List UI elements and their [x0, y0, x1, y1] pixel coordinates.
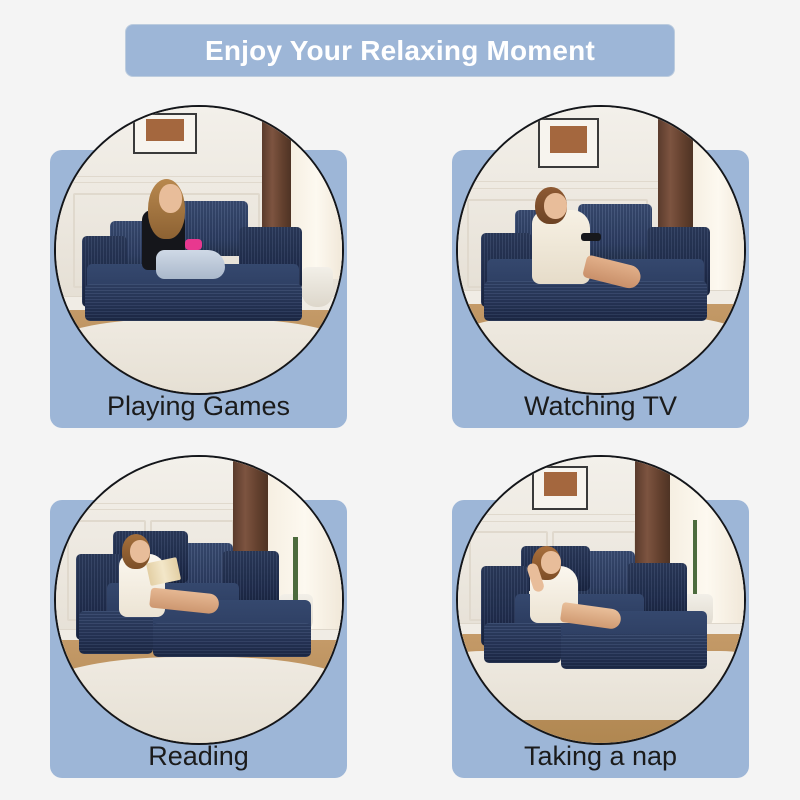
planter — [302, 267, 333, 307]
card-label-reading: Reading — [50, 743, 347, 770]
sofa-base-left — [79, 611, 153, 654]
area-rug — [54, 657, 344, 743]
feature-card-taking-a-nap[interactable]: Taking a nap — [452, 500, 749, 778]
sofa-base-left — [484, 623, 561, 663]
plant-stem — [693, 520, 697, 600]
wall-art-frame — [532, 466, 587, 510]
scene-photo-watching-tv — [456, 105, 746, 395]
wall-art-image — [146, 119, 184, 141]
feature-card-watching-tv[interactable]: Watching TV — [452, 150, 749, 428]
wall-art-image — [544, 472, 577, 496]
person-legs — [156, 250, 225, 279]
scene-photo-reading — [54, 455, 344, 745]
sofa-base — [85, 284, 302, 321]
scene-photo-playing-games — [54, 105, 344, 395]
person-head — [130, 540, 150, 563]
feature-card-playing-games[interactable]: Playing Games — [50, 150, 347, 428]
tv-remote — [581, 233, 601, 242]
wall-art-image — [550, 126, 587, 153]
photo-inner — [56, 107, 342, 393]
card-label-taking-a-nap: Taking a nap — [452, 743, 749, 770]
game-controller — [185, 239, 202, 250]
sofa-base — [484, 281, 707, 321]
person-head — [541, 551, 561, 574]
photo-inner — [56, 457, 342, 743]
wall-art-frame — [538, 118, 599, 168]
sofa-chaise-base — [153, 623, 310, 657]
area-rug — [456, 313, 746, 393]
wall-art-frame — [133, 113, 197, 154]
feature-card-reading[interactable]: Reading — [50, 500, 347, 778]
photo-inner — [458, 107, 744, 393]
wall-trim — [56, 503, 247, 511]
card-label-playing-games: Playing Games — [50, 393, 347, 420]
sofa-chaise-base — [561, 634, 707, 668]
person-head — [544, 193, 567, 219]
card-label-watching-tv: Watching TV — [452, 393, 749, 420]
scene-photo-taking-a-nap — [456, 455, 746, 745]
area-rug — [54, 319, 344, 393]
feature-card-grid: Playing Games — [0, 0, 800, 800]
photo-inner — [458, 457, 744, 743]
wall-trim — [458, 181, 672, 189]
wall-trim — [458, 514, 649, 522]
person-head — [159, 184, 182, 213]
plant-stem — [293, 537, 297, 600]
